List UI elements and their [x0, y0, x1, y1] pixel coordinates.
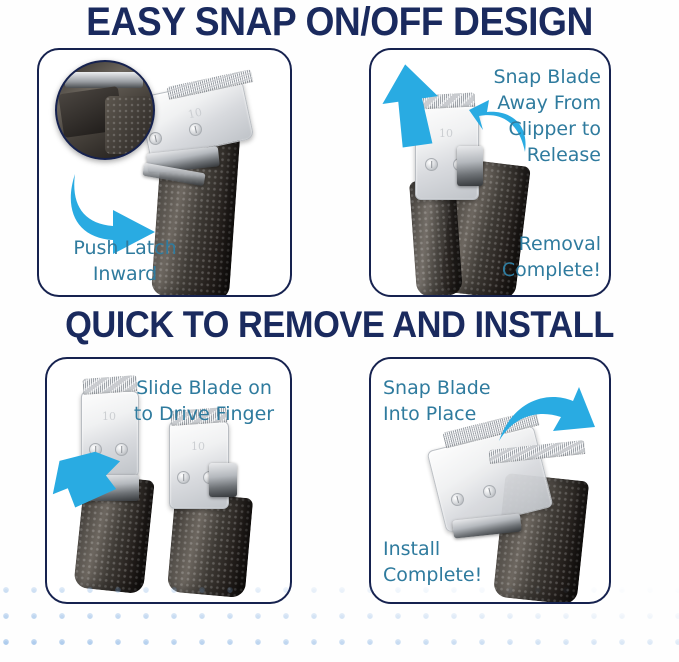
inset-blade-edge — [65, 72, 143, 88]
panel-2-caption-secondary: Removal Complete! — [469, 231, 601, 283]
panel-snap-into-place: Snap Blade Into Place Install Complete! — [369, 357, 611, 604]
straight-arrow-up-icon — [381, 64, 443, 148]
straight-arrow-down-left-icon — [55, 451, 121, 525]
blade-logo: 10 — [175, 441, 221, 452]
page-title-primary: EASY SNAP ON/OFF DESIGN — [24, 0, 655, 44]
blade-screw-left — [177, 471, 190, 484]
blade-latch-right — [209, 463, 237, 497]
infographic-page: EASY SNAP ON/OFF DESIGN 10 Push Latch In… — [0, 0, 679, 662]
blade-screw-left — [425, 158, 438, 171]
panel-3-caption: Slide Blade on to Drive Finger — [124, 375, 284, 427]
panel-4-caption-secondary: Install Complete! — [383, 536, 533, 588]
panel-push-latch: 10 Push Latch Inward — [37, 48, 292, 297]
inset-detail-circle — [55, 60, 155, 160]
panel-1-caption: Push Latch Inward — [51, 235, 199, 287]
panel-snap-blade-away: 10 Snap Blade Away From Clipper to Relea… — [369, 48, 611, 297]
panel-2-caption-primary: Snap Blade Away From Clipper to Release — [469, 64, 601, 168]
inset-grip — [105, 96, 151, 154]
page-title-secondary: QUICK TO REMOVE AND INSTALL — [24, 305, 655, 345]
panel-slide-blade: 10 10 Slide Blade on to Drive Finger — [45, 357, 292, 604]
panel-4-caption-primary: Snap Blade Into Place — [383, 375, 523, 427]
